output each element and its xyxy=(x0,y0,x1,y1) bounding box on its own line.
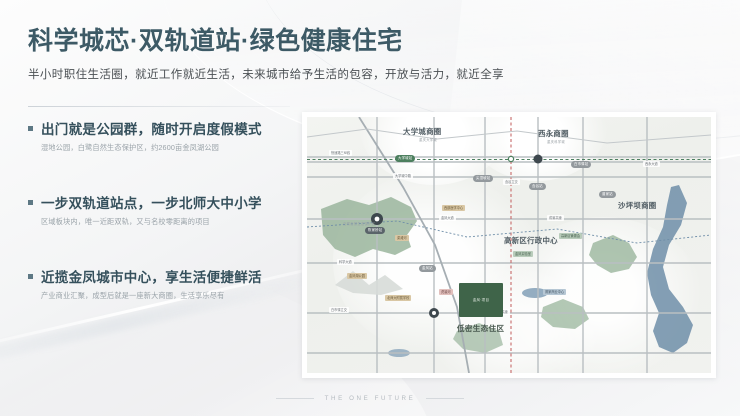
feature-title: 出门就是公园群，随时开启度假模式 xyxy=(41,118,262,138)
map-road-label: 白市驿立交 xyxy=(329,307,349,313)
map-poi-landmark[interactable]: 北师大附属学校 xyxy=(385,295,411,301)
footer-line-right xyxy=(426,398,464,399)
interchange-node xyxy=(534,155,543,164)
feature-item-transit-school: 一步双轨道站点，一步北师大中小学 区域板块内，唯一近距双轨，又与名校零距离的项目 xyxy=(28,192,296,227)
metro-station-marker[interactable]: 大学城站 xyxy=(395,155,415,162)
river-shape xyxy=(647,185,693,353)
footer-line-left xyxy=(276,398,314,399)
metro-station-marker[interactable]: 陈家桥站 xyxy=(365,227,385,234)
map-poi-landmark[interactable]: 曾家商业中心 xyxy=(543,289,566,295)
square-bullet-icon xyxy=(28,200,33,205)
metro-station-marker[interactable]: 曾家站 xyxy=(599,191,616,198)
feature-subtitle: 区域板块内，唯一近距双轨，又与名校零距离的项目 xyxy=(41,217,296,227)
location-map-frame: 大学城商圈 西永商圈 沙坪坝商圈 高新区行政中心 重庆大学城 重庆科学城 大学城… xyxy=(302,112,716,378)
footer: THE ONE FUTURE xyxy=(0,395,740,402)
map-road-label: 含谷立交 xyxy=(503,179,520,185)
map-road-label: 快速路三纵线 xyxy=(329,150,352,156)
feature-heading-row: 出门就是公园群，随时开启度假模式 xyxy=(28,118,296,138)
header: 科学城芯·双轨道站·绿色健康住宅 半小时职住生活圈，就近工作就近生活，未来城市给… xyxy=(28,27,688,82)
header-divider xyxy=(28,106,290,107)
metro-station-marker[interactable]: 尖顶坡站 xyxy=(473,175,493,182)
page-title: 科学城芯·双轨道站·绿色健康住宅 xyxy=(28,27,688,56)
park-polygon-bottom xyxy=(541,299,589,329)
interchange-node-center xyxy=(375,217,380,222)
square-bullet-icon xyxy=(28,274,33,279)
project-site-caption: 低密生态住区 xyxy=(457,323,504,334)
scenic-hill xyxy=(335,271,403,295)
map-road-label: 科学大道 xyxy=(337,259,354,265)
feature-title: 一步双轨道站点，一步北师大中小学 xyxy=(41,192,262,212)
map-poi-landmark[interactable]: 高新区管委会 xyxy=(559,233,582,239)
feature-heading-row: 近揽金凤城市中心，享生活便捷鲜活 xyxy=(28,266,296,286)
footer-text: THE ONE FUTURE xyxy=(325,395,416,402)
metro-station-marker[interactable]: 白市驿站 xyxy=(571,161,591,168)
feature-subtitle: 产业商业汇聚，成型后就是一座新大商圈，生活享乐尽有 xyxy=(41,291,296,301)
feature-title: 近揽金凤城市中心，享生活便捷鲜活 xyxy=(41,266,262,286)
square-bullet-icon xyxy=(28,126,33,131)
map-poi-landmark[interactable]: 虎溪河 xyxy=(439,289,453,295)
feature-item-city-center: 近揽金凤城市中心，享生活便捷鲜活 产业商业汇聚，成型后就是一座新大商圈，生活享乐… xyxy=(28,266,296,301)
transfer-node xyxy=(508,156,513,161)
slide-root: 科学城芯·双轨道站·绿色健康住宅 半小时职住生活圈，就近工作就近生活，未来城市给… xyxy=(0,0,740,416)
map-vector-layer xyxy=(307,117,711,373)
map-road-label: 大学城中路 xyxy=(393,173,413,179)
location-map: 大学城商圈 西永商圈 沙坪坝商圈 高新区行政中心 重庆大学城 重庆科学城 大学城… xyxy=(307,117,711,373)
interchange-node-center xyxy=(432,311,436,315)
map-road-label: 成渝高速 xyxy=(547,215,564,221)
map-poi-landmark[interactable]: 梁滩河 xyxy=(395,235,409,241)
park-polygon-right xyxy=(589,235,637,273)
map-poi-landmark[interactable]: 西部医学中心 xyxy=(442,205,465,211)
map-poi-landmark[interactable]: 金凤湖公园 xyxy=(347,273,367,279)
feature-subtitle: 湿地公园，白鹭自然生态保护区，约2600亩金凤湖公园 xyxy=(41,143,296,153)
project-site-block[interactable]: 金凤·项目 xyxy=(459,283,503,317)
map-poi-landmark[interactable]: 金凤实验室 xyxy=(513,251,533,257)
feature-list: 出门就是公园群，随时开启度假模式 湿地公园，白鹭自然生态保护区，约2600亩金凤… xyxy=(28,118,296,340)
page-subtitle: 半小时职住生活圈，就近工作就近生活，未来城市给予生活的包容，开放与活力，就近全享 xyxy=(28,66,688,82)
metro-station-marker[interactable]: 金凤站 xyxy=(419,265,436,272)
feature-heading-row: 一步双轨道站点，一步北师大中小学 xyxy=(28,192,296,212)
map-road-label: 西永大道 xyxy=(643,161,660,167)
map-road-label: 金凤大道 xyxy=(439,215,456,221)
road-network-horizontal xyxy=(307,157,711,353)
feature-item-parks: 出门就是公园群，随时开启度假模式 湿地公园，白鹭自然生态保护区，约2600亩金凤… xyxy=(28,118,296,153)
metro-station-marker[interactable]: 含谷站 xyxy=(529,183,546,190)
